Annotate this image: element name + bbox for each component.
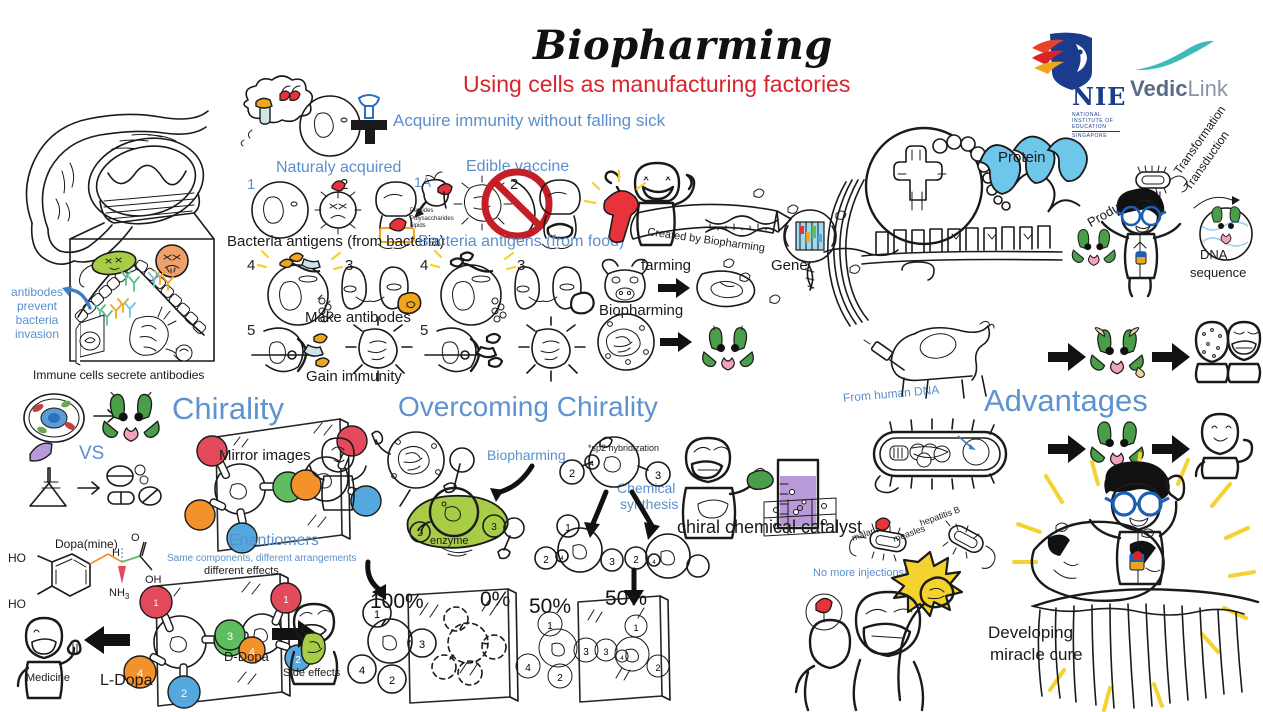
cow-injection-illustration bbox=[868, 318, 1038, 398]
arrow-right-icon-2 bbox=[1152, 340, 1192, 374]
antibodies-callout: antibodes prevent bacteria invasion bbox=[6, 285, 68, 341]
nie-abbr: NIE bbox=[1072, 82, 1126, 111]
svg-text:4: 4 bbox=[525, 663, 531, 674]
svg-text:1: 1 bbox=[153, 598, 158, 608]
page-title: Biopharming bbox=[533, 25, 833, 67]
medicine-label: Medicine bbox=[26, 673, 70, 685]
arrow-left-icon bbox=[84, 624, 130, 656]
enzyme-label: enzyme bbox=[430, 536, 469, 548]
svg-text:2: 2 bbox=[389, 675, 395, 687]
svg-text:3: 3 bbox=[227, 631, 233, 643]
svg-text:1: 1 bbox=[547, 621, 553, 632]
svg-text:4: 4 bbox=[590, 461, 594, 468]
svg-text:4: 4 bbox=[359, 665, 365, 677]
ribosome-translation-illustration bbox=[862, 120, 1092, 280]
enantiomers-label: Enantiomers bbox=[229, 533, 319, 550]
infographic-poster: Biopharming Using cells as manufacturing… bbox=[0, 0, 1263, 712]
vediclink-swoosh-icon bbox=[1130, 40, 1230, 74]
plant-mascot-icon-4 bbox=[100, 392, 162, 444]
chem-yield-mirror: 1 3 4 2 1 3 4 2 bbox=[520, 592, 680, 707]
bacteria-host-illustration bbox=[866, 418, 1036, 494]
svg-text:2: 2 bbox=[417, 528, 422, 538]
gain-immunity-label: Gain immunity bbox=[306, 369, 402, 385]
developing-line1: Developing bbox=[988, 624, 1073, 642]
callout-line-4: invasion bbox=[6, 327, 68, 341]
d-dopa-label: D-Dopa bbox=[224, 650, 269, 664]
immune-cells-caption: Immune cells secrete antibodies bbox=[33, 369, 204, 382]
side-effects-label: Side effects bbox=[283, 668, 340, 680]
svg-text:2: 2 bbox=[633, 555, 639, 566]
antigen-components: Peptides Polysaccharides Lipids bbox=[410, 208, 452, 231]
plant-mascot-icon-2 bbox=[1088, 324, 1146, 380]
enantiomers-sub: Same components, different arrangements bbox=[167, 554, 356, 565]
page-subtitle: Using cells as manufacturing factories bbox=[463, 72, 850, 96]
component-peptides: Peptides bbox=[410, 208, 452, 216]
immunity-heading: Acquire immunity without falling sick bbox=[393, 112, 665, 130]
person-holding-molecule bbox=[308, 432, 368, 512]
hero-glasses-icon bbox=[1105, 493, 1169, 515]
virus-icon bbox=[519, 317, 585, 381]
enzyme-illustration: 2 3 bbox=[398, 478, 528, 570]
miracle-cure-illustration bbox=[1030, 466, 1263, 712]
celebration-illustration bbox=[820, 500, 1050, 710]
svg-text:2: 2 bbox=[557, 673, 563, 684]
l-dopa-label: L-Dopa bbox=[100, 673, 152, 690]
dna-sequence-line1: DNA bbox=[1200, 248, 1227, 262]
virus-prohibited-icon bbox=[454, 172, 549, 236]
arrow-right-icon-3 bbox=[1048, 432, 1088, 466]
dna-sequence-line2: sequence bbox=[1190, 266, 1246, 280]
bacterium-malaria-icon bbox=[850, 518, 908, 561]
svg-text:3: 3 bbox=[419, 639, 425, 651]
make-antibodies-label: Make antibodes bbox=[305, 310, 411, 326]
svg-text:2: 2 bbox=[543, 555, 549, 566]
bacteria-with-antigen bbox=[315, 181, 361, 234]
svg-text:3: 3 bbox=[609, 557, 615, 568]
svg-text:1: 1 bbox=[565, 523, 571, 534]
sick-people-illustration bbox=[1190, 316, 1262, 382]
callout-line-3: bacteria bbox=[6, 313, 68, 327]
developing-line2: miracle cure bbox=[990, 646, 1083, 664]
callout-arrow-icon bbox=[60, 282, 92, 312]
svg-text:2: 2 bbox=[655, 663, 660, 673]
component-polysaccharides: Polysaccharides bbox=[410, 216, 452, 224]
vediclink-part1: Vedic bbox=[1130, 76, 1187, 101]
protein-label: Protein bbox=[998, 150, 1046, 166]
orange-pathogen-icon bbox=[156, 245, 188, 277]
vediclink-logo: VedicLink bbox=[1130, 40, 1230, 102]
callout-line-1: antibodes bbox=[6, 285, 68, 299]
svg-text:3: 3 bbox=[603, 647, 608, 657]
svg-text:2: 2 bbox=[181, 688, 187, 700]
svg-text:3: 3 bbox=[583, 647, 589, 658]
svg-text:4: 4 bbox=[620, 656, 624, 662]
mirror-images-label: Mirror images bbox=[219, 448, 311, 464]
callout-line-2: prevent bbox=[6, 299, 68, 313]
svg-text:3: 3 bbox=[655, 470, 661, 482]
farming-label: farming bbox=[641, 258, 691, 274]
bacterium-hepatitis-icon bbox=[943, 521, 995, 568]
svg-text:2: 2 bbox=[569, 468, 575, 480]
vediclink-part2: Link bbox=[1187, 76, 1227, 101]
svg-text:3: 3 bbox=[491, 522, 497, 533]
component-lipids: Lipids bbox=[410, 223, 452, 231]
arrow-right-icon-1 bbox=[1048, 340, 1088, 374]
plant-mascot-icon bbox=[700, 326, 756, 372]
svg-text:1: 1 bbox=[633, 623, 638, 633]
svg-text:1: 1 bbox=[374, 609, 380, 621]
bio-yield-mirror: 1 3 4 2 bbox=[360, 585, 540, 710]
biopharming-label: Biopharming bbox=[599, 303, 683, 319]
medicine-person-illustration bbox=[16, 612, 88, 700]
syringe-icon bbox=[345, 92, 403, 146]
overcoming-chirality-heading: Overcoming Chirality bbox=[398, 392, 658, 421]
edible-vaccine-step-3-4-5-illustration bbox=[425, 253, 605, 371]
